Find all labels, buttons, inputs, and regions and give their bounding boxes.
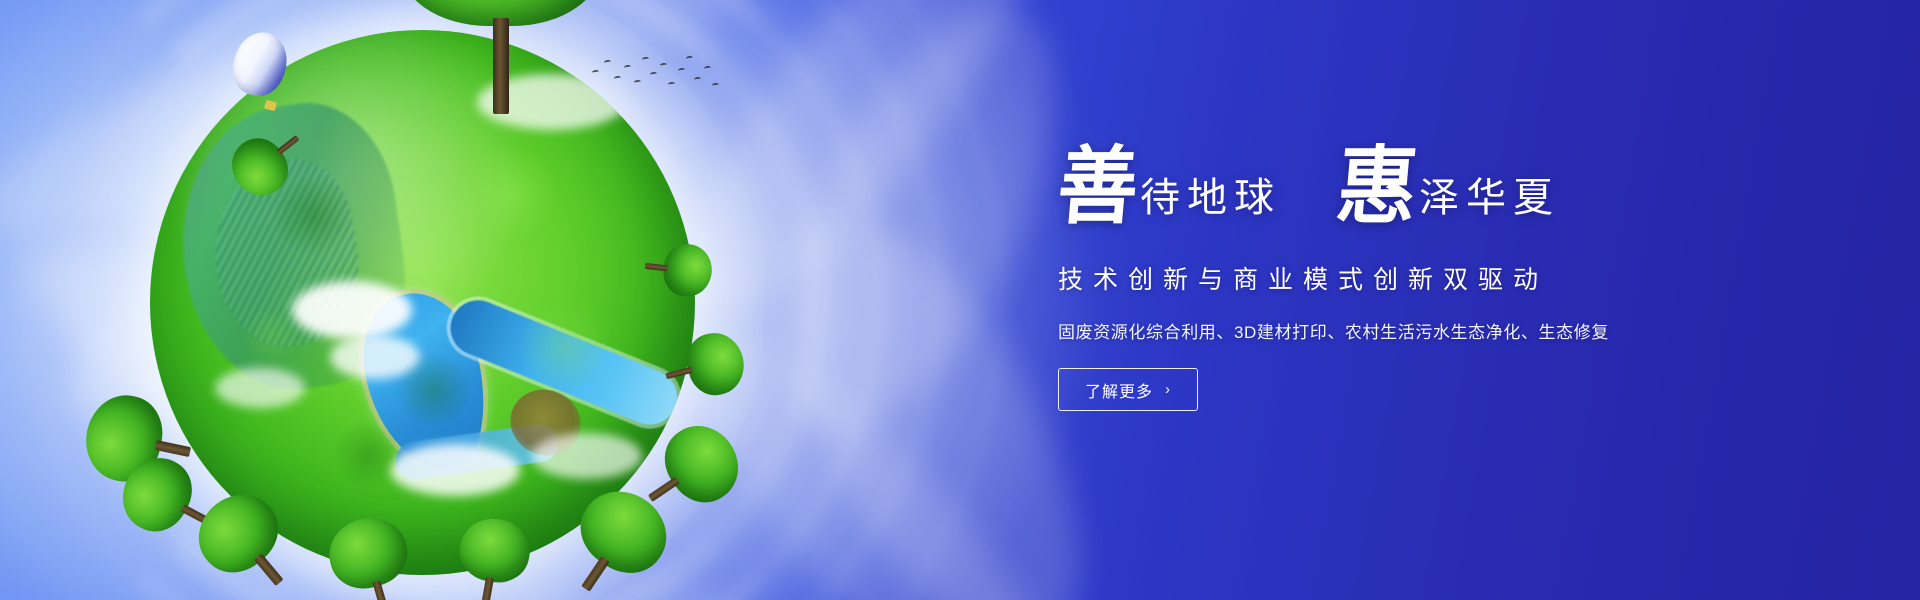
learn-more-label: 了解更多 — [1085, 378, 1153, 402]
cloud-icon — [330, 335, 420, 379]
soil-patch — [501, 380, 590, 466]
hero-banner: 善 待地球 惠 泽华夏 技术创新与商业模式创新双驱动 固废资源化综合利用、3D建… — [0, 0, 1920, 600]
tree-icon — [451, 513, 535, 600]
cloud-icon — [215, 368, 305, 408]
green-planet-image — [150, 30, 695, 575]
headline-lead-char-1: 善 — [1055, 147, 1142, 227]
headline-rest-2: 泽华夏 — [1419, 178, 1560, 224]
bird-flock-icon — [590, 52, 720, 92]
chevron-right-icon: › — [1165, 382, 1171, 397]
hot-air-balloon-icon — [234, 32, 290, 124]
hero-subtitle: 技术创新与商业模式创新双驱动 — [1058, 260, 1758, 296]
cloud-icon — [390, 444, 520, 496]
headline-rest-1: 待地球 — [1140, 178, 1281, 224]
headline-phrase-1: 善 待地球 — [1058, 149, 1281, 224]
cloud-icon — [532, 433, 642, 479]
headline-phrase-2: 惠 泽华夏 — [1337, 149, 1560, 224]
river — [443, 292, 686, 432]
cloud-icon — [292, 281, 412, 339]
tree-icon — [398, 0, 603, 100]
tree-icon — [643, 240, 714, 299]
hero-description: 固废资源化综合利用、3D建材打印、农村生活污水生态净化、生态修复 — [1058, 318, 1758, 343]
hero-copy: 善 待地球 惠 泽华夏 技术创新与商业模式创新双驱动 固废资源化综合利用、3D建… — [1058, 140, 1758, 411]
lake — [351, 282, 500, 482]
river — [393, 422, 560, 483]
learn-more-button[interactable]: 了解更多 › — [1058, 368, 1198, 411]
page-title: 善 待地球 惠 泽华夏 — [1058, 140, 1758, 224]
headline-lead-char-2: 惠 — [1334, 147, 1421, 227]
